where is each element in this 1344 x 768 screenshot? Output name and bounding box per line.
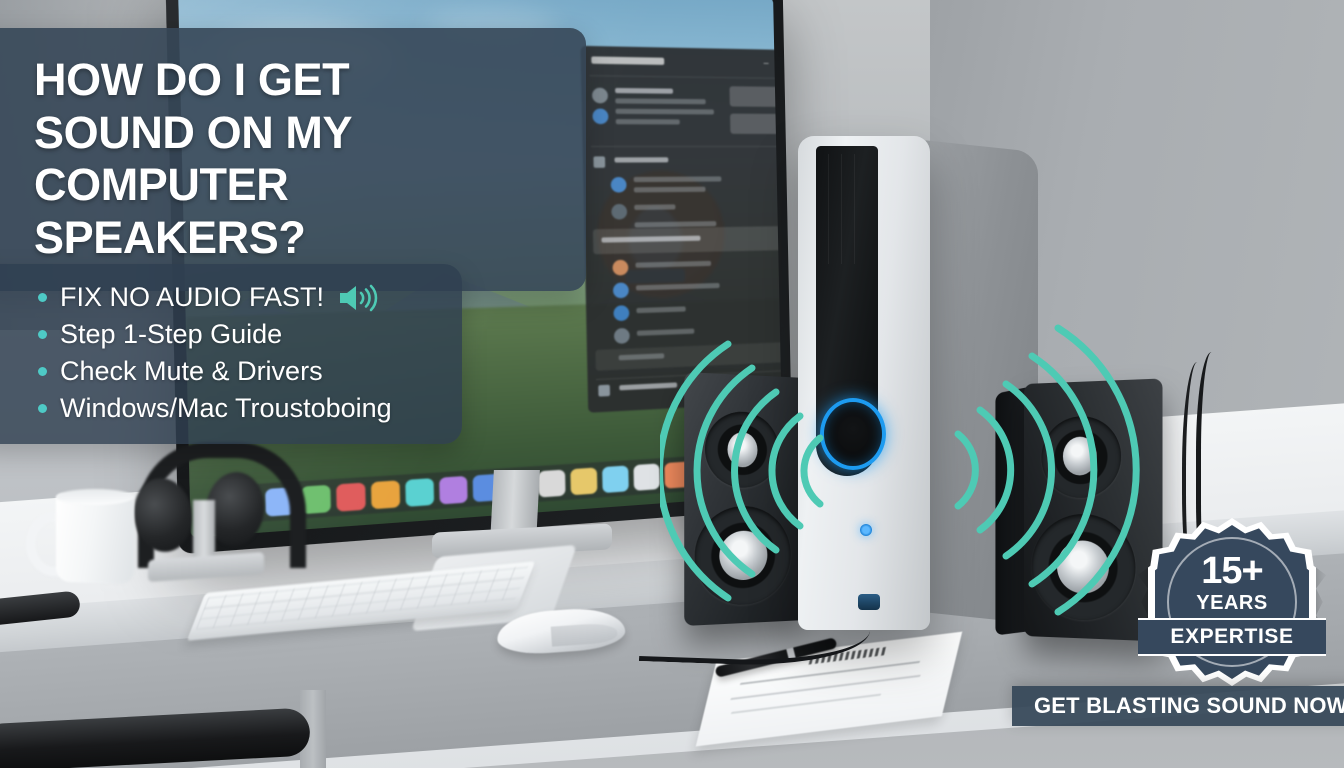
coffee-mug <box>56 494 134 585</box>
cta-label: GET BLASTING SOUND NOW! <box>1034 693 1344 719</box>
list-item-label: Windows/Mac Troustoboing <box>60 393 392 424</box>
mouse-seam <box>551 622 618 647</box>
badge-band: EXPERTISE <box>1138 618 1326 656</box>
badge-years-value: 15+ <box>1148 552 1316 590</box>
headline-line-3: COMPUTER SPEAKERS? <box>34 159 305 263</box>
headline-line-2: SOUND ON MY <box>34 107 352 158</box>
page-title: HOW DO I GETSOUND ON MYCOMPUTER SPEAKERS… <box>34 54 556 265</box>
close-icon[interactable]: ✕ <box>778 58 784 69</box>
sound-waves-left <box>660 318 880 618</box>
list-item: Windows/Mac Troustoboing <box>38 393 440 424</box>
list-item-label: FIX NO AUDIO FAST! <box>60 282 324 313</box>
headline-line-1: HOW DO I GET <box>34 54 349 105</box>
grille-lines <box>828 154 866 264</box>
status-badge: 15+ YEARS EXPERTISE <box>1148 518 1316 686</box>
sound-waves-right <box>918 300 1168 630</box>
bullet-dot-icon <box>38 330 47 339</box>
headline-panel: HOW DO I GETSOUND ON MYCOMPUTER SPEAKERS… <box>0 28 586 291</box>
mug-rim <box>56 489 134 505</box>
bullet-panel: FIX NO AUDIO FAST! Step 1-Step Guide Che… <box>0 264 462 444</box>
list-item: Check Mute & Drivers <box>38 356 440 387</box>
cta-banner[interactable]: GET BLASTING SOUND NOW! <box>1012 686 1344 726</box>
list-item: FIX NO AUDIO FAST! <box>38 282 440 313</box>
bullet-dot-icon <box>38 367 47 376</box>
bullet-dot-icon <box>38 404 47 413</box>
list-item-label: Check Mute & Drivers <box>60 356 323 387</box>
list-item: Step 1-Step Guide <box>38 319 440 350</box>
badge-band-label: EXPERTISE <box>1170 625 1293 649</box>
bullet-dot-icon <box>38 293 47 302</box>
list-item-label: Step 1-Step Guide <box>60 319 282 350</box>
poster-canvas: – ✕ <box>0 0 1344 768</box>
badge-years-label: YEARS <box>1148 592 1316 615</box>
feature-list: FIX NO AUDIO FAST! Step 1-Step Guide Che… <box>38 282 440 424</box>
speaker-waves-icon <box>337 283 381 313</box>
